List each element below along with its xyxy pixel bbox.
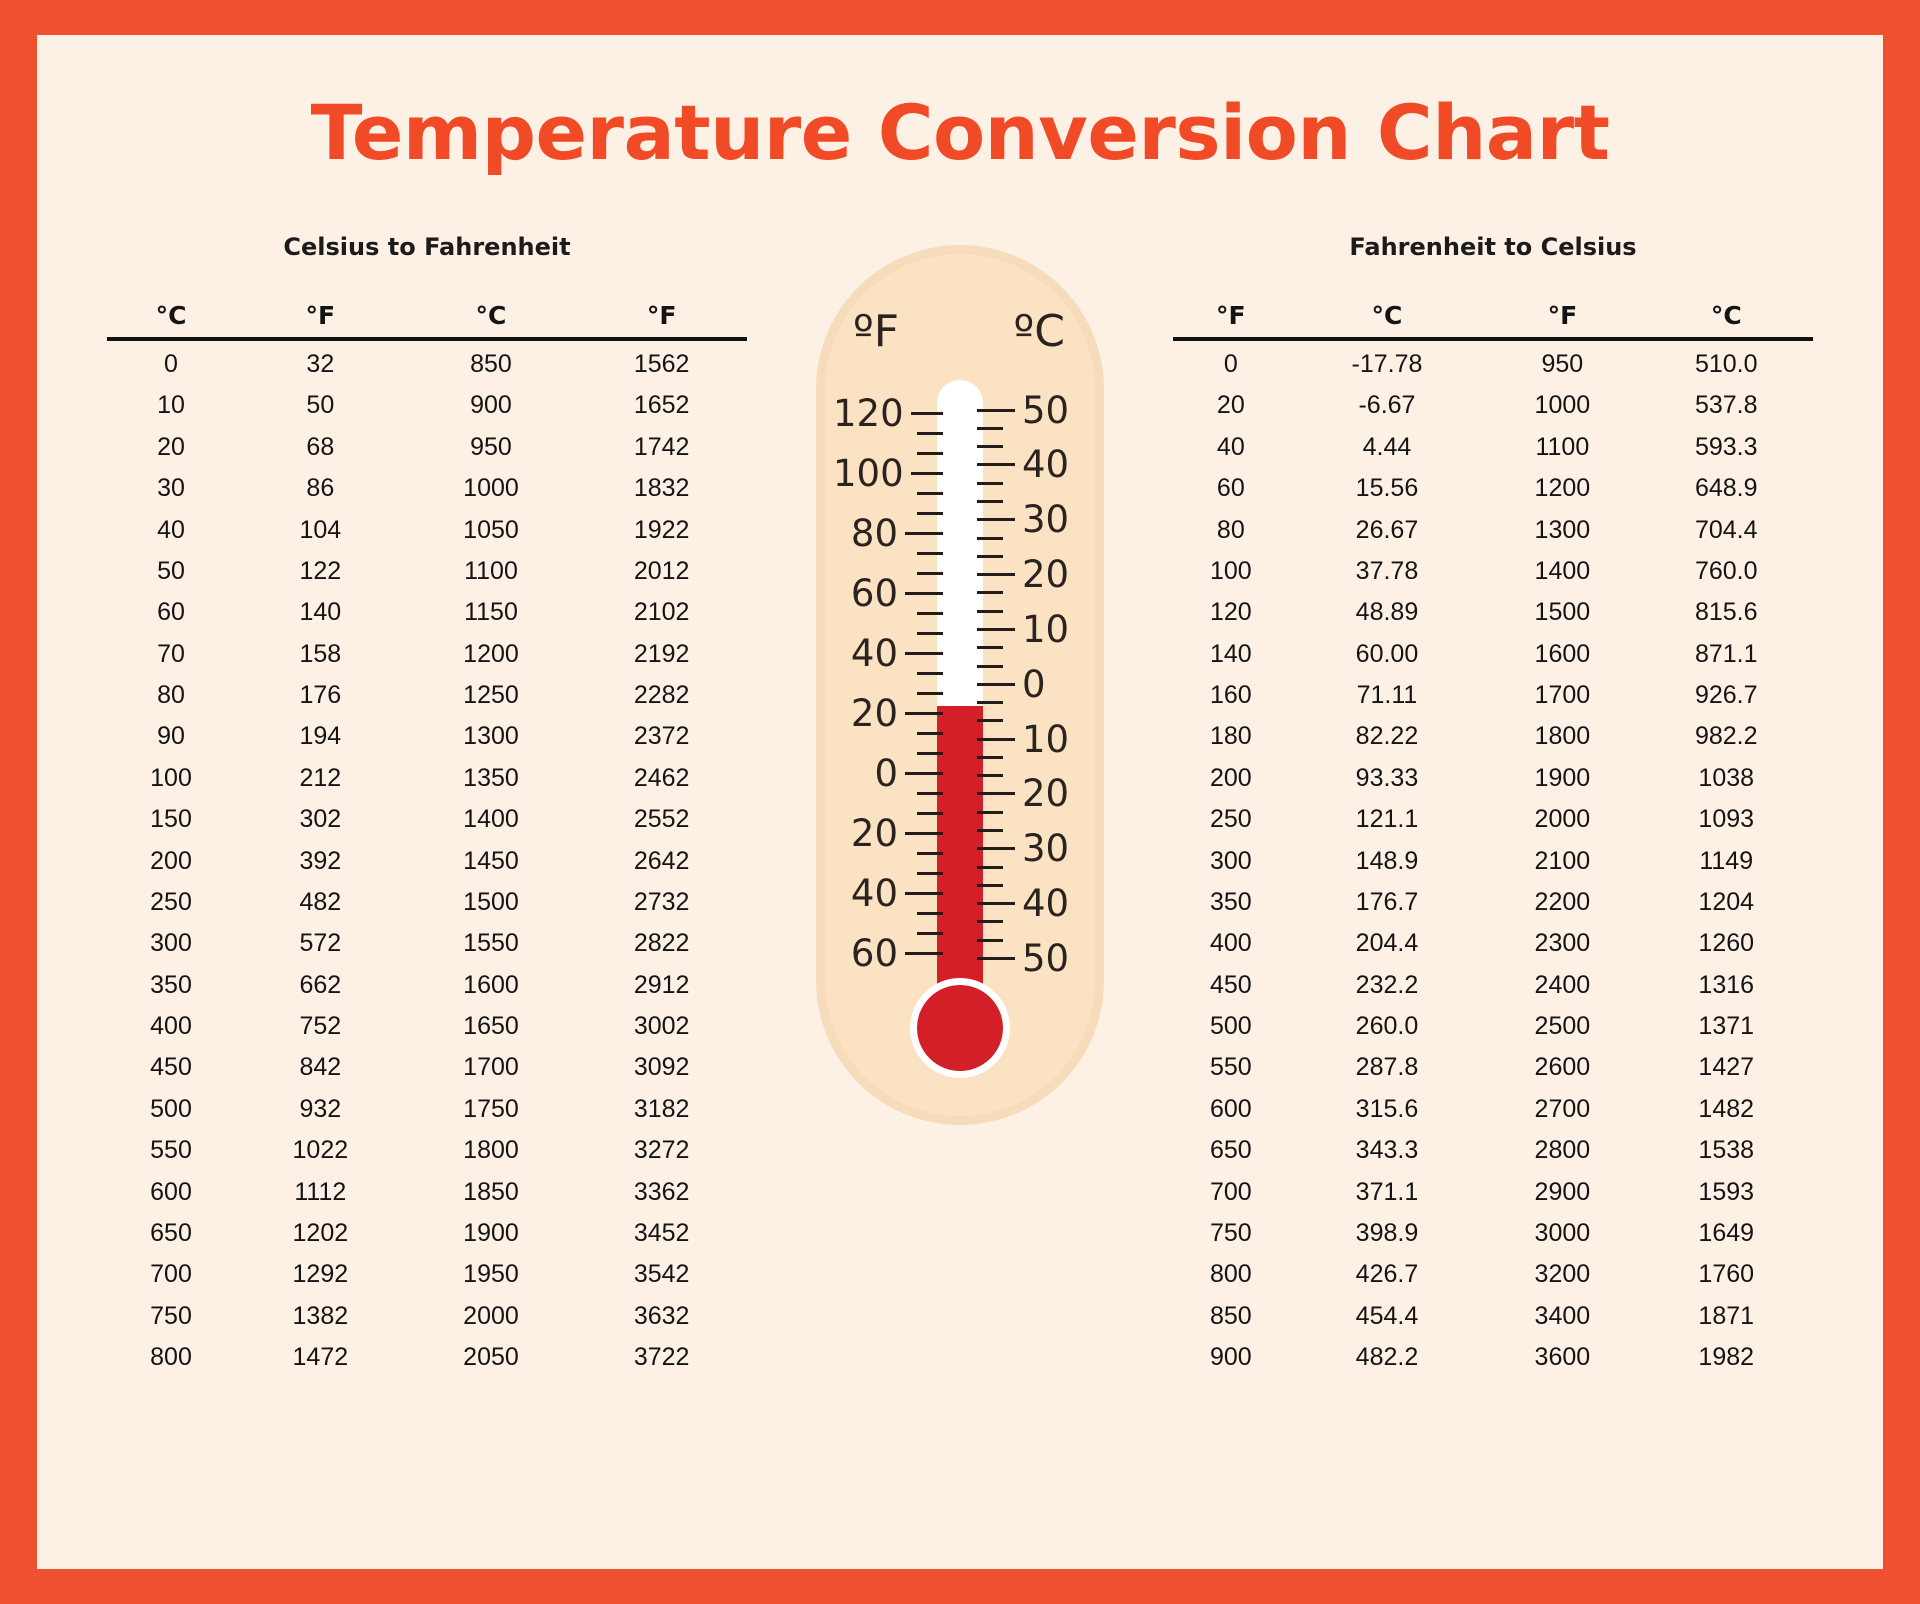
scale-tick-label: 0	[874, 755, 898, 792]
tick-mark	[977, 902, 1015, 905]
table-cell: 180	[1173, 716, 1289, 757]
tick-mark	[917, 552, 943, 555]
table-cell: 60	[1173, 468, 1289, 509]
table-cell: 950	[406, 427, 577, 468]
table-cell: 315.6	[1289, 1089, 1486, 1130]
table-cell: 82.22	[1289, 716, 1486, 757]
table-cell: 1593	[1639, 1171, 1813, 1212]
table-cell: 3002	[576, 1006, 747, 1047]
table-row: 8017612502282	[107, 675, 747, 716]
table-cell: 37.78	[1289, 551, 1486, 592]
table-cell: 800	[107, 1337, 235, 1378]
tick-mark	[977, 792, 1015, 795]
table-cell: 1093	[1639, 799, 1813, 840]
table-cell: 1450	[406, 840, 577, 881]
table-row: 40075216503002	[107, 1006, 747, 1047]
table-cell: 400	[1173, 923, 1289, 964]
scale-tick-label: 20	[851, 695, 898, 732]
table-cell: 2642	[576, 840, 747, 881]
table-cell: 212	[235, 758, 406, 799]
table-cell: 648.9	[1639, 468, 1813, 509]
table-cell: 510.0	[1639, 339, 1813, 385]
table-cell: 1500	[406, 882, 577, 923]
table-cell: 2000	[1485, 799, 1639, 840]
table-cell: 176.7	[1289, 882, 1486, 923]
table-cell: 1562	[576, 339, 747, 385]
table-row: 500260.025001371	[1173, 1006, 1813, 1047]
table-cell: 3632	[576, 1295, 747, 1336]
tick-mark	[917, 692, 943, 695]
table-row: 9019413002372	[107, 716, 747, 757]
table-row: 6014011502102	[107, 592, 747, 633]
table-row: 25048215002732	[107, 882, 747, 923]
table-cell: 700	[107, 1254, 235, 1295]
table-cell: 1472	[235, 1337, 406, 1378]
column-header: °C	[1639, 301, 1813, 339]
table-cell: 1149	[1639, 840, 1813, 881]
table-row: 700371.129001593	[1173, 1171, 1813, 1212]
table-cell: 90	[107, 716, 235, 757]
table-cell: 70	[107, 633, 235, 674]
fahrenheit-scale: 120100806040200204060	[833, 380, 943, 1016]
table-cell: -17.78	[1289, 339, 1486, 385]
table-cell: 3600	[1485, 1337, 1639, 1378]
right-table-caption: Fahrenheit to Celsius	[1173, 233, 1813, 261]
fahrenheit-to-celsius-table: °F °C °F °C 0-17.78950510.020-6.67100053…	[1173, 301, 1813, 1378]
table-cell: 3452	[576, 1213, 747, 1254]
table-cell: 3272	[576, 1130, 747, 1171]
table-cell: 1922	[576, 509, 747, 550]
column-header: °C	[1289, 301, 1486, 339]
table-cell: 760.0	[1639, 551, 1813, 592]
left-table-caption: Celsius to Fahrenheit	[107, 233, 747, 261]
tick-mark	[905, 532, 943, 535]
table-cell: 60	[107, 592, 235, 633]
table-cell: 482.2	[1289, 1337, 1486, 1378]
tick-mark	[905, 712, 943, 715]
table-cell: 842	[235, 1047, 406, 1088]
table-cell: 1250	[406, 675, 577, 716]
table-cell: 1742	[576, 427, 747, 468]
table-cell: 900	[406, 385, 577, 426]
table-cell: 204.4	[1289, 923, 1486, 964]
tick-mark	[917, 492, 943, 495]
scale-tick-label: 20	[851, 815, 898, 852]
table-row: 800147220503722	[107, 1337, 747, 1378]
table-cell: 158	[235, 633, 406, 674]
table-cell: 454.4	[1289, 1295, 1486, 1336]
column-header: °F	[1173, 301, 1289, 339]
table-row: 8026.671300704.4	[1173, 509, 1813, 550]
table-cell: 302	[235, 799, 406, 840]
table-cell: 60.00	[1289, 633, 1486, 674]
table-cell: 1292	[235, 1254, 406, 1295]
table-cell: 2400	[1485, 964, 1639, 1005]
column-header: °F	[576, 301, 747, 339]
table-row: 550287.826001427	[1173, 1047, 1813, 1088]
tick-mark	[917, 632, 943, 635]
table-row: 900482.236001982	[1173, 1337, 1813, 1378]
table-row: 600111218503362	[107, 1171, 747, 1212]
table-cell: 1300	[1485, 509, 1639, 550]
scale-tick-label: 50	[1022, 940, 1069, 977]
table-cell: 1316	[1639, 964, 1813, 1005]
table-cell: 40	[1173, 427, 1289, 468]
table-cell: 1650	[406, 1006, 577, 1047]
table-cell: 700	[1173, 1171, 1289, 1212]
table-cell: 1950	[406, 1254, 577, 1295]
table-cell: 2900	[1485, 1171, 1639, 1212]
table-cell: 200	[107, 840, 235, 881]
table-cell: 593.3	[1639, 427, 1813, 468]
scale-tick-label: 40	[1022, 446, 1069, 483]
table-row: 16071.111700926.7	[1173, 675, 1813, 716]
tick-mark	[917, 932, 943, 935]
table-cell: 398.9	[1289, 1213, 1486, 1254]
table-header-row: °C °F °C °F	[107, 301, 747, 339]
table-row: 12048.891500815.6	[1173, 592, 1813, 633]
table-cell: 300	[107, 923, 235, 964]
table-cell: 1382	[235, 1295, 406, 1336]
thermometer-body: ºF ºC 120100806040200204060 504030201001…	[816, 245, 1104, 1125]
table-cell: 15.56	[1289, 468, 1486, 509]
tick-mark	[905, 592, 943, 595]
table-cell: 1871	[1639, 1295, 1813, 1336]
tick-mark	[977, 482, 1003, 485]
tick-mark	[917, 732, 943, 735]
table-cell: 1204	[1639, 882, 1813, 923]
table-cell: 30	[107, 468, 235, 509]
table-cell: 140	[235, 592, 406, 633]
table-cell: 26.67	[1289, 509, 1486, 550]
table-cell: 1050	[406, 509, 577, 550]
table-cell: 150	[107, 799, 235, 840]
table-cell: 80	[107, 675, 235, 716]
tick-mark	[977, 920, 1003, 923]
table-row: 0328501562	[107, 339, 747, 385]
table-cell: 2372	[576, 716, 747, 757]
table-cell: 1300	[406, 716, 577, 757]
table-row: 650343.328001538	[1173, 1130, 1813, 1171]
table-cell: 68	[235, 427, 406, 468]
table-cell: 3542	[576, 1254, 747, 1295]
scale-tick-label: 20	[1022, 775, 1069, 812]
table-cell: 2552	[576, 799, 747, 840]
table-cell: 1900	[1485, 758, 1639, 799]
table-cell: 3722	[576, 1337, 747, 1378]
table-row: 20093.3319001038	[1173, 758, 1813, 799]
tick-mark	[977, 756, 1003, 759]
table-cell: 1649	[1639, 1213, 1813, 1254]
table-cell: 2192	[576, 633, 747, 674]
table-cell: 2912	[576, 964, 747, 1005]
table-cell: 2012	[576, 551, 747, 592]
celsius-unit-label: ºC	[1014, 306, 1065, 357]
celsius-scale: 504030201001020304050	[977, 380, 1087, 1016]
table-cell: 287.8	[1289, 1047, 1486, 1088]
tick-mark	[917, 512, 943, 515]
tick-mark	[977, 463, 1015, 466]
table-cell: 71.11	[1289, 675, 1486, 716]
table-cell: 3400	[1485, 1295, 1639, 1336]
table-cell: 2462	[576, 758, 747, 799]
table-cell: 1371	[1639, 1006, 1813, 1047]
tick-mark	[905, 892, 943, 895]
table-cell: 1000	[406, 468, 577, 509]
table-cell: 2600	[1485, 1047, 1639, 1088]
table-cell: 1150	[406, 592, 577, 633]
table-cell: 1000	[1485, 385, 1639, 426]
table-row: 650120219003452	[107, 1213, 747, 1254]
table-row: 404.441100593.3	[1173, 427, 1813, 468]
table-row: 400204.423001260	[1173, 923, 1813, 964]
table-cell: 148.9	[1289, 840, 1486, 881]
table-cell: 662	[235, 964, 406, 1005]
table-cell: 300	[1173, 840, 1289, 881]
scale-tick-label: 10	[1022, 611, 1069, 648]
tick-mark	[977, 738, 1015, 741]
tick-mark	[977, 518, 1015, 521]
table-row: 700129219503542	[107, 1254, 747, 1295]
table-cell: 600	[107, 1171, 235, 1212]
table-cell: 1900	[406, 1213, 577, 1254]
table-cell: 1427	[1639, 1047, 1813, 1088]
table-cell: 1038	[1639, 758, 1813, 799]
table-cell: 650	[107, 1213, 235, 1254]
scale-tick-label: 20	[1022, 556, 1069, 593]
table-cell: 176	[235, 675, 406, 716]
table-cell: 500	[107, 1089, 235, 1130]
table-cell: 950	[1485, 339, 1639, 385]
tick-mark	[977, 665, 1003, 668]
table-cell: 1700	[406, 1047, 577, 1088]
table-cell: 1100	[406, 551, 577, 592]
table-row: 15030214002552	[107, 799, 747, 840]
table-cell: 120	[1173, 592, 1289, 633]
table-cell: 572	[235, 923, 406, 964]
table-cell: 2100	[1485, 840, 1639, 881]
table-cell: 2732	[576, 882, 747, 923]
tick-mark	[977, 573, 1015, 576]
table-cell: 250	[1173, 799, 1289, 840]
right-table-body: 0-17.78950510.020-6.671000537.8404.44110…	[1173, 339, 1813, 1378]
table-cell: 704.4	[1639, 509, 1813, 550]
table-cell: 80	[1173, 509, 1289, 550]
table-cell: 3000	[1485, 1213, 1639, 1254]
table-cell: 0	[107, 339, 235, 385]
table-row: 10037.781400760.0	[1173, 551, 1813, 592]
table-row: 300148.921001149	[1173, 840, 1813, 881]
table-row: 10509001652	[107, 385, 747, 426]
table-cell: 1600	[1485, 633, 1639, 674]
table-cell: 600	[1173, 1089, 1289, 1130]
table-cell: 500	[1173, 1006, 1289, 1047]
table-cell: 550	[107, 1130, 235, 1171]
scale-tick-label: 10	[1022, 721, 1069, 758]
table-cell: 1112	[235, 1171, 406, 1212]
tick-mark	[977, 774, 1003, 777]
table-cell: 1800	[406, 1130, 577, 1171]
table-cell: 343.3	[1289, 1130, 1486, 1171]
table-cell: 1400	[1485, 551, 1639, 592]
table-cell: 260.0	[1289, 1006, 1486, 1047]
table-row: 5012211002012	[107, 551, 747, 592]
tick-mark	[977, 719, 1003, 722]
table-row: 800426.732001760	[1173, 1254, 1813, 1295]
scale-tick-label: 40	[851, 635, 898, 672]
table-cell: 350	[1173, 882, 1289, 923]
celsius-to-fahrenheit-table: °C °F °C °F 0328501562105090016522068950…	[107, 301, 747, 1378]
table-cell: 750	[1173, 1213, 1289, 1254]
table-cell: 48.89	[1289, 592, 1486, 633]
scale-tick-label: 30	[1022, 830, 1069, 867]
tick-mark	[977, 829, 1003, 832]
tick-mark	[977, 939, 1003, 942]
tick-mark	[917, 912, 943, 915]
table-row: 18082.221800982.2	[1173, 716, 1813, 757]
tick-mark	[977, 500, 1003, 503]
scale-tick-label: 120	[833, 395, 904, 432]
tick-mark	[905, 772, 943, 775]
table-cell: 2282	[576, 675, 747, 716]
table-cell: 2700	[1485, 1089, 1639, 1130]
scale-tick-label: 40	[851, 875, 898, 912]
table-cell: 100	[107, 758, 235, 799]
tick-mark	[977, 591, 1003, 594]
scale-tick-label: 60	[851, 935, 898, 972]
tick-mark	[917, 852, 943, 855]
table-cell: 3200	[1485, 1254, 1639, 1295]
scale-tick-label: 100	[833, 455, 904, 492]
table-cell: 2200	[1485, 882, 1639, 923]
table-cell: 1800	[1485, 716, 1639, 757]
table-cell: 871.1	[1639, 633, 1813, 674]
table-cell: 1832	[576, 468, 747, 509]
table-row: 350176.722001204	[1173, 882, 1813, 923]
table-row: 4010410501922	[107, 509, 747, 550]
table-cell: 450	[1173, 964, 1289, 1005]
table-row: 35066216002912	[107, 964, 747, 1005]
table-cell: 2102	[576, 592, 747, 633]
scale-tick-label: 0	[1022, 666, 1046, 703]
table-cell: 1500	[1485, 592, 1639, 633]
table-cell: 3362	[576, 1171, 747, 1212]
table-cell: 537.8	[1639, 385, 1813, 426]
table-cell: 200	[1173, 758, 1289, 799]
table-cell: 450	[107, 1047, 235, 1088]
tick-mark	[917, 752, 943, 755]
page-title: Temperature Conversion Chart	[37, 35, 1883, 171]
table-cell: 1202	[235, 1213, 406, 1254]
tick-mark	[977, 683, 1015, 686]
table-row: 6015.561200648.9	[1173, 468, 1813, 509]
table-cell: 3182	[576, 1089, 747, 1130]
content-row: Celsius to Fahrenheit °C °F °C °F 032850…	[37, 233, 1883, 1378]
table-cell: 0	[1173, 339, 1289, 385]
table-row: 20689501742	[107, 427, 747, 468]
table-cell: 400	[107, 1006, 235, 1047]
table-cell: 2000	[406, 1295, 577, 1336]
tick-mark	[977, 537, 1003, 540]
table-row: 550102218003272	[107, 1130, 747, 1171]
column-header: °C	[406, 301, 577, 339]
table-cell: 482	[235, 882, 406, 923]
table-cell: 752	[235, 1006, 406, 1047]
table-cell: 1538	[1639, 1130, 1813, 1171]
tick-mark	[917, 812, 943, 815]
table-cell: 2500	[1485, 1006, 1639, 1047]
table-cell: 1022	[235, 1130, 406, 1171]
table-header-row: °F °C °F °C	[1173, 301, 1813, 339]
table-cell: 2050	[406, 1337, 577, 1378]
table-cell: 392	[235, 840, 406, 881]
table-cell: 932	[235, 1089, 406, 1130]
table-cell: 1482	[1639, 1089, 1813, 1130]
tick-mark	[977, 884, 1003, 887]
table-row: 600315.627001482	[1173, 1089, 1813, 1130]
table-row: 450232.224001316	[1173, 964, 1813, 1005]
left-table-body: 0328501562105090016522068950174230861000…	[107, 339, 747, 1378]
table-cell: 140	[1173, 633, 1289, 674]
table-cell: 1600	[406, 964, 577, 1005]
table-cell: 1200	[1485, 468, 1639, 509]
table-cell: 371.1	[1289, 1171, 1486, 1212]
tick-mark	[917, 792, 943, 795]
celsius-to-fahrenheit-block: Celsius to Fahrenheit °C °F °C °F 032850…	[107, 233, 747, 1378]
table-cell: 3092	[576, 1047, 747, 1088]
table-row: 750398.930001649	[1173, 1213, 1813, 1254]
tick-mark	[977, 701, 1003, 704]
table-cell: 1350	[406, 758, 577, 799]
table-cell: 650	[1173, 1130, 1289, 1171]
tick-mark	[917, 572, 943, 575]
table-row: 30057215502822	[107, 923, 747, 964]
tick-mark	[917, 452, 943, 455]
tick-mark	[977, 646, 1003, 649]
table-cell: 20	[1173, 385, 1289, 426]
column-header: °F	[1485, 301, 1639, 339]
table-cell: 815.6	[1639, 592, 1813, 633]
tick-mark	[977, 811, 1003, 814]
tick-mark	[977, 610, 1003, 613]
table-row: 0-17.78950510.0	[1173, 339, 1813, 385]
tick-mark	[977, 445, 1003, 448]
table-cell: 50	[107, 551, 235, 592]
table-cell: 1750	[406, 1089, 577, 1130]
fahrenheit-to-celsius-block: Fahrenheit to Celsius °F °C °F °C 0-17.7…	[1173, 233, 1813, 1378]
tick-mark	[905, 832, 943, 835]
column-header: °F	[235, 301, 406, 339]
column-header: °C	[107, 301, 235, 339]
table-cell: 20	[107, 427, 235, 468]
table-cell: 160	[1173, 675, 1289, 716]
table-cell: 40	[107, 509, 235, 550]
table-cell: 1200	[406, 633, 577, 674]
tick-mark	[977, 555, 1003, 558]
table-cell: 104	[235, 509, 406, 550]
table-cell: 982.2	[1639, 716, 1813, 757]
table-cell: 4.44	[1289, 427, 1486, 468]
table-cell: 2300	[1485, 923, 1639, 964]
tick-mark	[977, 628, 1015, 631]
table-cell: 121.1	[1289, 799, 1486, 840]
table-cell: 2822	[576, 923, 747, 964]
table-cell: 1100	[1485, 427, 1639, 468]
table-row: 308610001832	[107, 468, 747, 509]
scale-tick-label: 60	[851, 575, 898, 612]
table-cell: 122	[235, 551, 406, 592]
scale-tick-label: 40	[1022, 885, 1069, 922]
